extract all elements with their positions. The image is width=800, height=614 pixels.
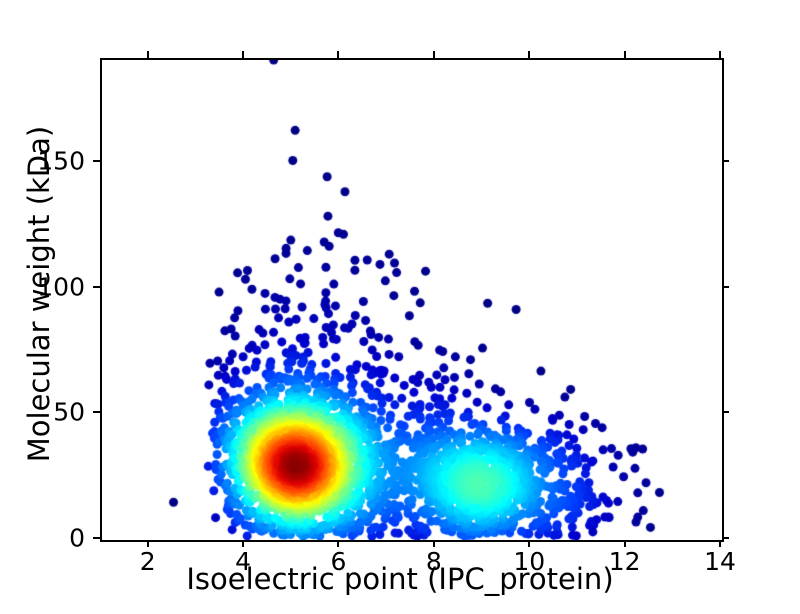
y-ticklabel-0: 0 <box>69 526 85 551</box>
x-tick-2 <box>147 540 149 547</box>
x-tick-top-8 <box>433 51 435 58</box>
scatter-points-canvas <box>102 60 722 540</box>
y-tick-right-100 <box>722 286 729 288</box>
x-tick-top-2 <box>147 51 149 58</box>
x-axis-label: Isoelectric point (IPC_protein) <box>0 563 800 596</box>
x-tick-top-14 <box>719 51 721 58</box>
y-tick-150 <box>93 160 100 162</box>
x-tick-top-10 <box>528 51 530 58</box>
y-ticklabel-100: 100 <box>37 274 85 299</box>
x-tick-4 <box>242 540 244 547</box>
y-ticklabel-50: 50 <box>53 400 85 425</box>
x-tick-14 <box>719 540 721 547</box>
x-tick-6 <box>337 540 339 547</box>
x-tick-8 <box>433 540 435 547</box>
y-tick-50 <box>93 411 100 413</box>
y-tick-right-50 <box>722 411 729 413</box>
scatter-plot-figure: 2468101214 050100150 Isoelectric point (… <box>0 0 800 600</box>
y-tick-0 <box>93 537 100 539</box>
y-ticklabel-150: 150 <box>37 149 85 174</box>
y-tick-right-150 <box>722 160 729 162</box>
x-tick-10 <box>528 540 530 547</box>
plot-area <box>100 58 724 542</box>
x-tick-top-4 <box>242 51 244 58</box>
y-tick-right-0 <box>722 537 729 539</box>
x-tick-top-12 <box>624 51 626 58</box>
x-tick-12 <box>624 540 626 547</box>
y-axis-label-wrapper: Molecular weight (kDa) <box>19 0 59 614</box>
y-tick-100 <box>93 286 100 288</box>
x-tick-top-6 <box>337 51 339 58</box>
